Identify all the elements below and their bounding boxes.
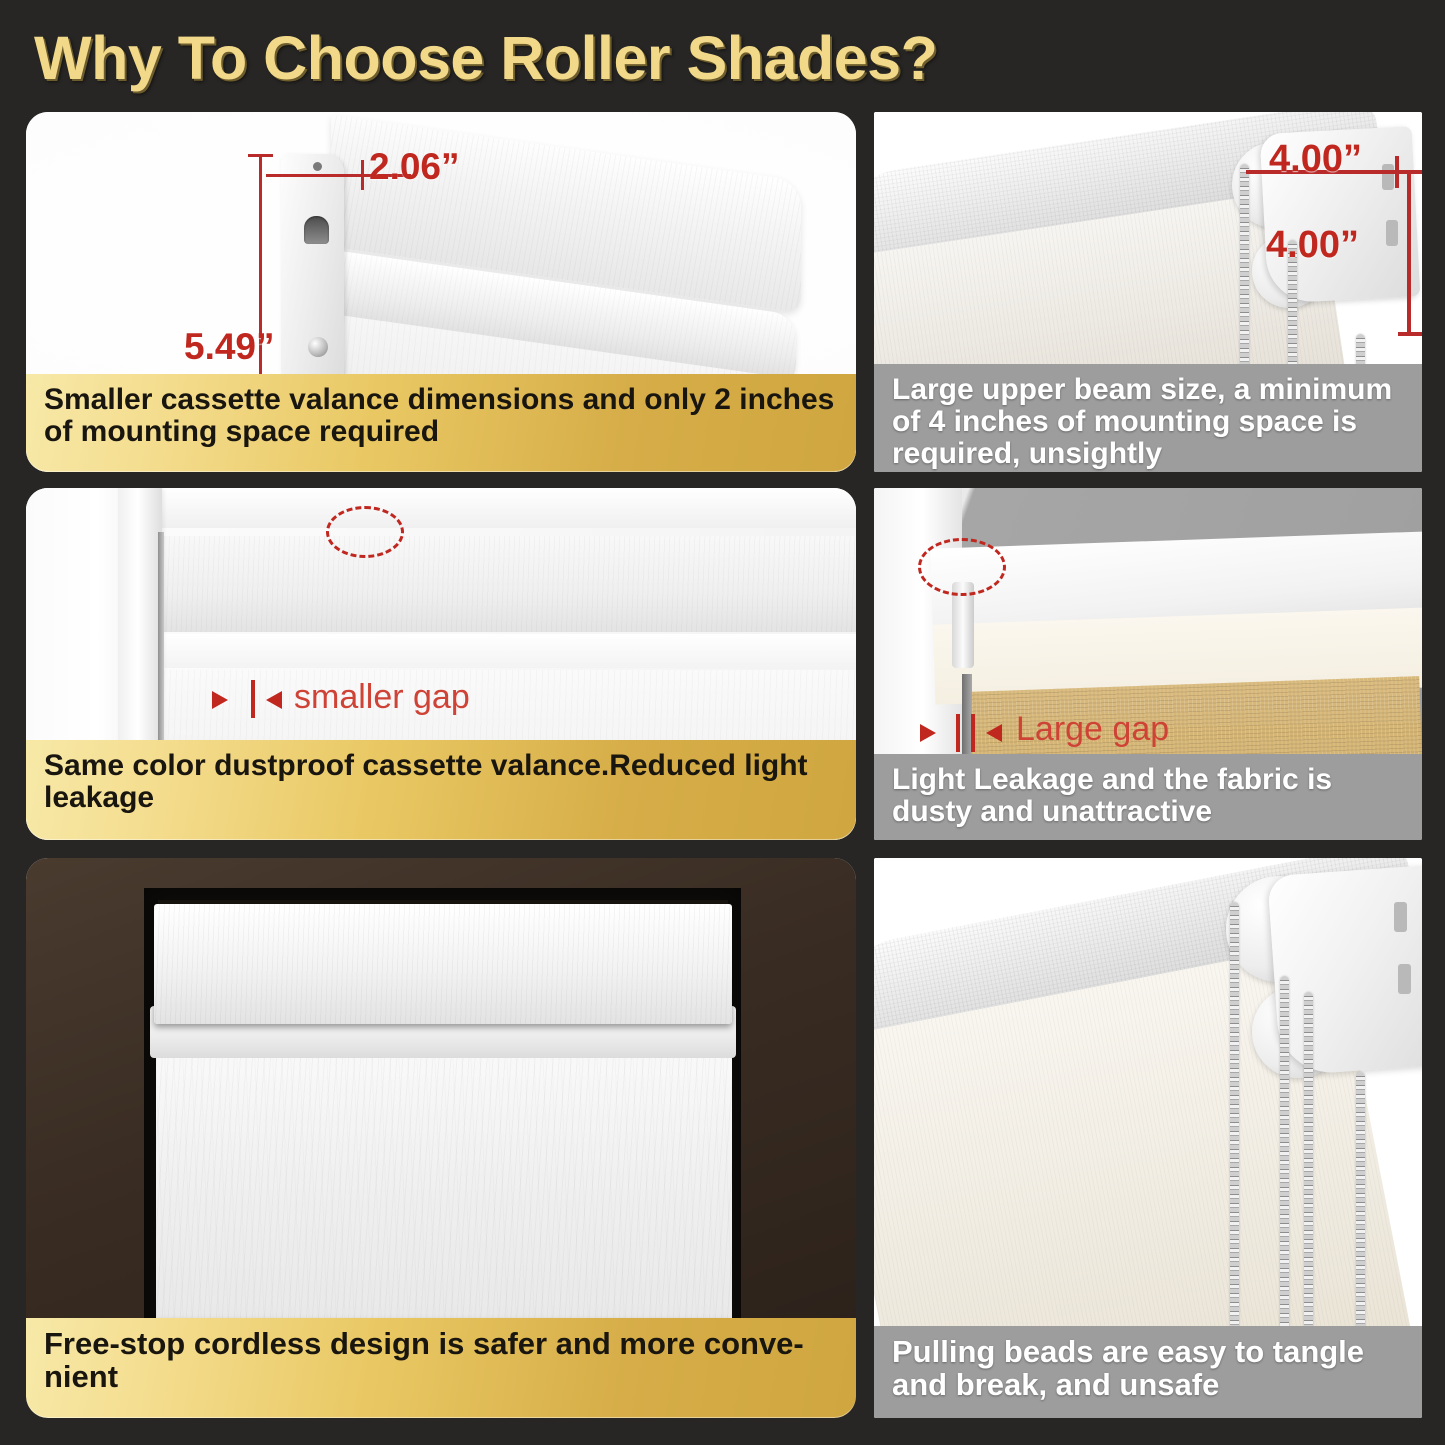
- panel-6: Pulling beads are easy to tangle and bre…: [874, 858, 1422, 1418]
- gap-arrow-right-icon: [986, 724, 1002, 742]
- panel-4: Large gap Light Leakage and the fabric i…: [874, 488, 1422, 840]
- highlight-circle-icon: [326, 506, 404, 558]
- panel-2: 4.00” 4.00” Large upper beam size, a min…: [874, 112, 1422, 472]
- bead-chain-3: [1304, 992, 1313, 1332]
- bead-chain-1: [1230, 902, 1239, 1330]
- gap-tick-2: [971, 714, 975, 752]
- gap-tick-1: [956, 714, 960, 752]
- infographic-page: Why To Choose Roller Shades? 5.49” 2.06”…: [0, 0, 1445, 1445]
- panel-3: smaller gap Same color dustproof cassett…: [26, 488, 856, 840]
- panel-4-caption: Light Leakage and the fabric is dusty an…: [874, 754, 1422, 840]
- gap-arrow-left-icon: [920, 724, 936, 742]
- beam-width-label: 4.00”: [1269, 138, 1362, 181]
- bracket-screw-hole-1: [1382, 164, 1394, 190]
- gap-label: smaller gap: [294, 678, 470, 717]
- beam-height-tick-top: [1398, 170, 1422, 174]
- width-dim-tick-right: [361, 160, 364, 190]
- bracket-pin: [313, 162, 322, 171]
- gap-arrow-right-icon: [266, 691, 282, 709]
- panel-5-caption: Free-stop cordless design is safer and m…: [26, 1318, 856, 1418]
- panel-5: Free-stop cordless design is safer and m…: [26, 858, 856, 1418]
- window-head-trim: [118, 488, 856, 528]
- gap-tick: [251, 680, 255, 718]
- beam-height-dim-line: [1407, 170, 1411, 336]
- panel-1: 5.49” 2.06” Smaller cassette valance dim…: [26, 112, 856, 472]
- bracket-screw-hole-1: [1394, 902, 1407, 932]
- gap-arrow-left-icon: [212, 691, 228, 709]
- highlight-circle-icon: [918, 538, 1006, 596]
- shade-fabric: [156, 1054, 732, 1334]
- beam-height-tick-bottom: [1398, 332, 1422, 336]
- panel-3-caption: Same color dustproof cassette valance.Re…: [26, 740, 856, 840]
- page-title: Why To Choose Roller Shades?: [34, 22, 1234, 94]
- gap-label: Large gap: [1016, 710, 1169, 749]
- height-dim-tick-top: [248, 154, 273, 157]
- bracket-screw-hole-2: [1398, 964, 1411, 994]
- panel-2-caption: Large upper beam size, a minimum of 4 in…: [874, 364, 1422, 472]
- bead-chain-2: [1280, 976, 1289, 1334]
- beam-height-label: 4.00”: [1266, 224, 1359, 267]
- valance-lip: [164, 634, 856, 668]
- bead-chain-4: [1356, 1072, 1365, 1334]
- bracket-screw-hole-2: [1386, 220, 1398, 246]
- panel-1-caption: Smaller cassette valance dimensions and …: [26, 374, 856, 472]
- bracket-slot: [304, 216, 329, 244]
- height-dimension-label: 5.49”: [184, 326, 275, 368]
- cassette-valance: [154, 904, 732, 1024]
- bracket-screw: [308, 337, 328, 357]
- width-dimension-label: 2.06”: [369, 146, 460, 188]
- panel-6-caption: Pulling beads are easy to tangle and bre…: [874, 1326, 1422, 1418]
- cassette-valance: [164, 536, 856, 632]
